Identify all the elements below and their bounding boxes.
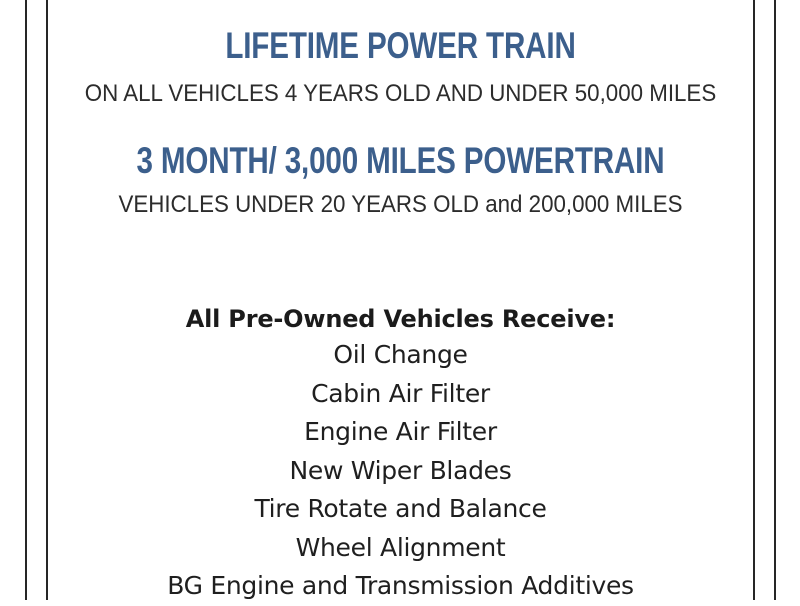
border-rule-right-inner [753, 0, 755, 600]
warranty-headline-lifetime-powertrain: LIFETIME POWER TRAIN [119, 27, 683, 64]
service-item-wheel-alignment: Wheel Alignment [48, 529, 753, 568]
warranty-headline-3month-powertrain: 3 MONTH/ 3,000 MILES POWERTRAIN [119, 142, 683, 179]
service-item-engine-air-filter: Engine Air Filter [48, 413, 753, 452]
border-rule-left-outer [25, 0, 27, 600]
service-item-new-wiper-blades: New Wiper Blades [48, 452, 753, 491]
service-item-tire-rotate-and-balance: Tire Rotate and Balance [48, 490, 753, 529]
service-item-oil-change: Oil Change [48, 336, 753, 375]
warranty-subline-lifetime-powertrain: ON ALL VEHICLES 4 YEARS OLD AND UNDER 50… [73, 81, 729, 107]
content-column: LIFETIME POWER TRAIN ON ALL VEHICLES 4 Y… [48, 0, 753, 600]
service-item-cabin-air-filter: Cabin Air Filter [48, 375, 753, 414]
border-rule-right-outer [774, 0, 776, 600]
services-section: All Pre-Owned Vehicles Receive: Oil Chan… [48, 302, 753, 606]
warranty-subline-3month-powertrain: VEHICLES UNDER 20 YEARS OLD and 200,000 … [73, 192, 729, 218]
services-section-title: All Pre-Owned Vehicles Receive: [48, 302, 753, 336]
flyer-page: LIFETIME POWER TRAIN ON ALL VEHICLES 4 Y… [0, 0, 800, 600]
